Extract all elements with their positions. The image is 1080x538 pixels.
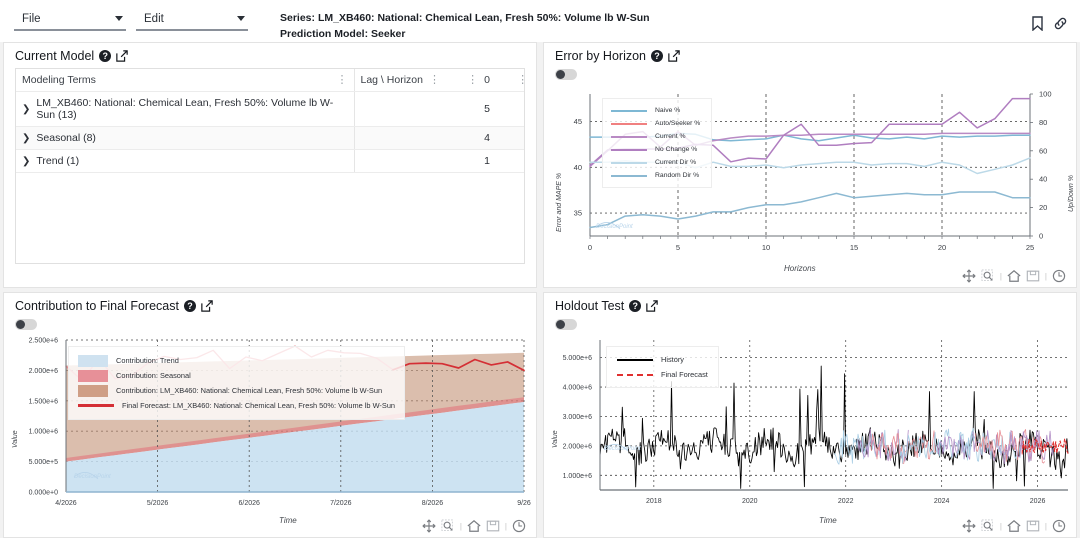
y-tick-label: 1.500e+6 <box>29 398 58 405</box>
popout-icon[interactable] <box>201 300 213 312</box>
series-row: Series: LM_XB460: National: Chemical Lea… <box>280 10 650 26</box>
x-tick-label: 8/2026 <box>422 500 444 507</box>
column-menu-icon[interactable]: ⋮ <box>467 76 478 84</box>
legend-label: Final Forecast: LM_XB460: National: Chem… <box>122 401 395 410</box>
y-tick-label: 2.500e+6 <box>29 338 58 345</box>
table-head: Modeling Terms ⋮ Lag \ Horizon ⋮ <box>16 69 525 92</box>
panel-title: Current Model <box>15 49 94 63</box>
legend-item[interactable]: Contribution: Trend <box>78 353 395 368</box>
legend-item[interactable]: Random Dir % <box>611 169 703 182</box>
pan-icon[interactable] <box>422 519 436 533</box>
pan-icon[interactable] <box>962 269 976 283</box>
x-tick-label: 0 <box>588 243 592 252</box>
error-by-horizon-plot: 0510152025354045020406080100DecisionPoin… <box>544 80 1076 280</box>
home-icon[interactable] <box>467 519 481 533</box>
error-chart-legend: Naive %Auto/Seeker %Current %No Change %… <box>602 98 712 188</box>
table-row[interactable]: ❯ LM_XB460: National: Chemical Lean, Fre… <box>16 92 525 127</box>
x-tick-label: 7/2026 <box>330 500 352 507</box>
contribution-chart-toolbar: | | <box>422 519 526 533</box>
popout-icon[interactable] <box>116 50 128 62</box>
x-axis-label: Horizons <box>784 264 816 273</box>
legend-label: Contribution: Trend <box>116 356 179 365</box>
prediction-model-value: Seeker <box>371 28 405 40</box>
y2-tick-label: 20 <box>1039 203 1047 212</box>
legend-item[interactable]: History <box>617 352 708 367</box>
x-tick-label: 5 <box>676 243 680 252</box>
help-icon[interactable]: ? <box>99 50 111 62</box>
file-menu[interactable]: File <box>14 13 126 31</box>
modeling-terms-table: Modeling Terms ⋮ Lag \ Horizon ⋮ <box>16 69 525 173</box>
series-line-random-dir- <box>590 192 1030 228</box>
reset-icon[interactable] <box>512 519 526 533</box>
edit-menu[interactable]: Edit <box>136 13 248 31</box>
x-axis-label: Time <box>279 516 297 525</box>
prediction-model-label: Prediction Model: <box>280 28 368 40</box>
table-row[interactable]: ❯ Seasonal (8) 4 4 <box>16 127 525 150</box>
legend-item[interactable]: Final Forecast: LM_XB460: National: Chem… <box>78 398 395 413</box>
series-info: Series: LM_XB460: National: Chemical Lea… <box>280 10 650 42</box>
x-tick-label: 9/26 <box>517 500 531 507</box>
legend-label: No Change % <box>655 146 697 153</box>
column-label: Lag \ Horizon <box>361 74 423 86</box>
panel-grid: Current Model ? Modeling Terms <box>0 42 1080 538</box>
cell-horizon-1: 5 <box>496 92 525 127</box>
y-tick-label: 40 <box>574 163 582 172</box>
chevron-down-icon <box>115 16 123 21</box>
toolbar-separator: | <box>1045 522 1047 531</box>
legend-label: Contribution: Seasonal <box>116 371 191 380</box>
cell-lag <box>354 92 446 127</box>
zoom-icon[interactable] <box>981 519 995 533</box>
pan-icon[interactable] <box>962 519 976 533</box>
chevron-right-icon[interactable]: ❯ <box>22 156 30 167</box>
legend-swatch <box>78 355 108 367</box>
term-label: LM_XB460: National: Chemical Lean, Fresh… <box>36 97 347 121</box>
y-tick-label: 35 <box>574 209 582 218</box>
panel-current-model: Current Model ? Modeling Terms <box>3 42 537 288</box>
x-tick-label: 5/2026 <box>147 500 169 507</box>
legend-item[interactable]: Contribution: LM_XB460: National: Chemic… <box>78 383 395 398</box>
panel-holdout-test: Holdout Test ? 1.000e+62.000e+63.000e+64… <box>543 292 1077 538</box>
legend-item[interactable]: Final Forecast <box>617 367 708 382</box>
x-tick-label: 2022 <box>838 498 854 505</box>
legend-swatch <box>617 374 653 376</box>
error-chart-toolbar: | | <box>962 269 1066 283</box>
x-tick-label: 4/2026 <box>55 500 77 507</box>
contribution-header: Contribution to Final Forecast ? <box>4 293 536 318</box>
top-right-icons <box>1031 16 1068 31</box>
column-menu-icon[interactable]: ⋮ <box>337 76 348 84</box>
legend-label: Naive % <box>655 107 680 114</box>
y-tick-label: 3.000e+6 <box>563 414 592 421</box>
popout-icon[interactable] <box>668 50 680 62</box>
legend-swatch <box>611 149 647 151</box>
legend-item[interactable]: Naive % <box>611 104 703 117</box>
contribution-chart-legend: Contribution: TrendContribution: Seasona… <box>68 346 405 420</box>
legend-item[interactable]: No Change % <box>611 143 703 156</box>
save-icon[interactable] <box>486 519 500 533</box>
cell-lag <box>354 150 446 173</box>
table-row[interactable]: ❯ Trend (1) 1 1 <box>16 150 525 173</box>
holdout-chart-toolbar: | | <box>962 519 1066 533</box>
cell-horizon-0: 5 <box>446 92 496 127</box>
y2-tick-label: 40 <box>1039 175 1047 184</box>
x-tick-label: 25 <box>1026 243 1034 252</box>
cell-horizon-1: 1 <box>496 150 525 173</box>
x-tick-label: 2026 <box>1030 498 1046 505</box>
cell-horizon-0: 4 <box>446 127 496 150</box>
column-label: Modeling Terms <box>22 74 96 86</box>
x-axis-label: Time <box>819 516 837 525</box>
error-chart-toggle[interactable] <box>555 69 577 80</box>
panel-error-by-horizon: Error by Horizon ? 051015202535404502040… <box>543 42 1077 288</box>
panel-contribution: Contribution to Final Forecast ? 0.000e+… <box>3 292 537 538</box>
legend-swatch <box>617 359 653 361</box>
column-menu-icon[interactable]: ⋮ <box>517 76 525 84</box>
x-tick-label: 2020 <box>742 498 758 505</box>
legend-swatch <box>611 136 647 138</box>
prediction-model-row: Prediction Model: Seeker <box>280 26 650 42</box>
home-icon[interactable] <box>1007 269 1021 283</box>
y-axis-label: Value <box>552 430 559 448</box>
link-icon[interactable] <box>1053 16 1068 31</box>
holdout-header: Holdout Test ? <box>544 293 1076 318</box>
x-tick-label: 6/2026 <box>238 500 260 507</box>
toolbar-separator: | <box>460 522 462 531</box>
y-tick-label: 5.000e+5 <box>29 459 58 466</box>
legend-label: Final Forecast <box>661 370 708 379</box>
popout-icon[interactable] <box>646 300 658 312</box>
y-tick-label: 45 <box>574 117 582 126</box>
x-tick-label: 2018 <box>646 498 662 505</box>
reset-icon[interactable] <box>1052 269 1066 283</box>
y-tick-label: 0.000e+0 <box>29 490 58 497</box>
series-value: LM_XB460: National: Chemical Lean, Fresh… <box>318 12 650 24</box>
legend-swatch <box>611 123 647 125</box>
toolbar-separator: | <box>1045 272 1047 281</box>
cell-term[interactable]: ❯ Seasonal (8) <box>16 127 354 150</box>
y2-tick-label: 0 <box>1039 232 1043 241</box>
file-menu-label: File <box>22 13 41 25</box>
x-tick-label: 2024 <box>934 498 950 505</box>
x-tick-label: 15 <box>850 243 858 252</box>
chevron-right-icon[interactable]: ❯ <box>22 104 30 115</box>
y2-tick-label: 80 <box>1039 118 1047 127</box>
current-model-header: Current Model ? <box>4 43 536 68</box>
top-toolbar: File Edit Series: LM_XB460: National: Ch… <box>0 0 1080 42</box>
legend-swatch <box>611 110 647 112</box>
term-label: Seasonal (8) <box>36 132 96 144</box>
bookmark-icon[interactable] <box>1031 16 1044 31</box>
x-tick-label: 20 <box>938 243 946 252</box>
legend-label: Current Dir % <box>655 159 696 166</box>
zoom-icon[interactable] <box>441 519 455 533</box>
save-icon[interactable] <box>1026 269 1040 283</box>
modeling-terms-table-wrapper: Modeling Terms ⋮ Lag \ Horizon ⋮ <box>15 68 525 264</box>
y2-axis-label: Up/Down % <box>1068 175 1075 212</box>
zoom-icon[interactable] <box>981 269 995 283</box>
legend-item[interactable]: Auto/Seeker % <box>611 117 703 130</box>
legend-label: Auto/Seeker % <box>655 120 700 127</box>
table-body: ❯ LM_XB460: National: Chemical Lean, Fre… <box>16 92 525 173</box>
legend-label: Current % <box>655 133 686 140</box>
column-header-horizon-1[interactable]: ⋮ 1 <box>496 69 525 92</box>
reset-icon[interactable] <box>1052 519 1066 533</box>
y-tick-label: 1.000e+6 <box>29 429 58 436</box>
legend-label: History <box>661 355 684 364</box>
toolbar-separator: | <box>1000 272 1002 281</box>
cell-lag <box>354 127 446 150</box>
column-header-horizon-0[interactable]: ⋮ 0 <box>446 69 496 92</box>
x-tick-label: 10 <box>762 243 770 252</box>
y-axis-label: Error and MAPE % <box>556 173 563 232</box>
panel-title: Error by Horizon <box>555 49 646 63</box>
table-header-row: Modeling Terms ⋮ Lag \ Horizon ⋮ <box>16 69 525 92</box>
contribution-plot: 0.000e+05.000e+51.000e+61.500e+62.000e+6… <box>4 330 536 530</box>
y-tick-label: 2.000e+6 <box>29 368 58 375</box>
app-root: File Edit Series: LM_XB460: National: Ch… <box>0 0 1080 538</box>
cell-term[interactable]: ❯ Trend (1) <box>16 150 354 173</box>
error-by-horizon-header: Error by Horizon ? <box>544 43 1076 68</box>
edit-menu-label: Edit <box>144 13 164 25</box>
help-icon[interactable]: ? <box>651 50 663 62</box>
legend-label: Random Dir % <box>655 172 699 179</box>
holdout-plot: 1.000e+62.000e+63.000e+64.000e+65.000e+6… <box>544 330 1076 530</box>
legend-item[interactable]: Current % <box>611 130 703 143</box>
y-axis-label: Value <box>12 430 19 448</box>
panel-title: Contribution to Final Forecast <box>15 299 179 313</box>
save-icon[interactable] <box>1026 519 1040 533</box>
legend-swatch <box>78 370 108 382</box>
y-tick-label: 5.000e+6 <box>563 355 592 362</box>
legend-swatch <box>78 385 108 397</box>
toolbar-separator: | <box>1000 522 1002 531</box>
legend-item[interactable]: Current Dir % <box>611 156 703 169</box>
panel-title: Holdout Test <box>555 299 624 313</box>
column-label: 0 <box>484 74 490 86</box>
y-tick-label: 1.000e+6 <box>563 473 592 480</box>
help-icon[interactable]: ? <box>184 300 196 312</box>
y2-tick-label: 100 <box>1039 90 1052 99</box>
series-label: Series: <box>280 12 315 24</box>
help-icon[interactable]: ? <box>629 300 641 312</box>
chevron-right-icon[interactable]: ❯ <box>22 133 30 144</box>
holdout-chart-toggle[interactable] <box>555 319 577 330</box>
contribution-chart-toggle[interactable] <box>15 319 37 330</box>
legend-item[interactable]: Contribution: Seasonal <box>78 368 395 383</box>
home-icon[interactable] <box>1007 519 1021 533</box>
legend-swatch <box>611 175 647 177</box>
cell-term[interactable]: ❯ LM_XB460: National: Chemical Lean, Fre… <box>16 92 354 127</box>
y-tick-label: 2.000e+6 <box>563 443 592 450</box>
holdout-chart-legend: HistoryFinal Forecast <box>606 346 719 388</box>
column-header-lag-horizon[interactable]: Lag \ Horizon ⋮ <box>354 69 446 92</box>
cell-horizon-0: 1 <box>446 150 496 173</box>
cell-horizon-1: 4 <box>496 127 525 150</box>
chevron-down-icon <box>237 16 245 21</box>
y-tick-label: 4.000e+6 <box>563 385 592 392</box>
legend-swatch <box>611 162 647 164</box>
legend-label: Contribution: LM_XB460: National: Chemic… <box>116 386 382 395</box>
y2-tick-label: 60 <box>1039 146 1047 155</box>
term-label: Trend (1) <box>36 155 79 167</box>
toolbar-separator: | <box>505 522 507 531</box>
column-menu-icon[interactable]: ⋮ <box>429 76 440 84</box>
column-header-modeling-terms[interactable]: Modeling Terms ⋮ <box>16 69 354 92</box>
legend-swatch <box>78 404 114 407</box>
